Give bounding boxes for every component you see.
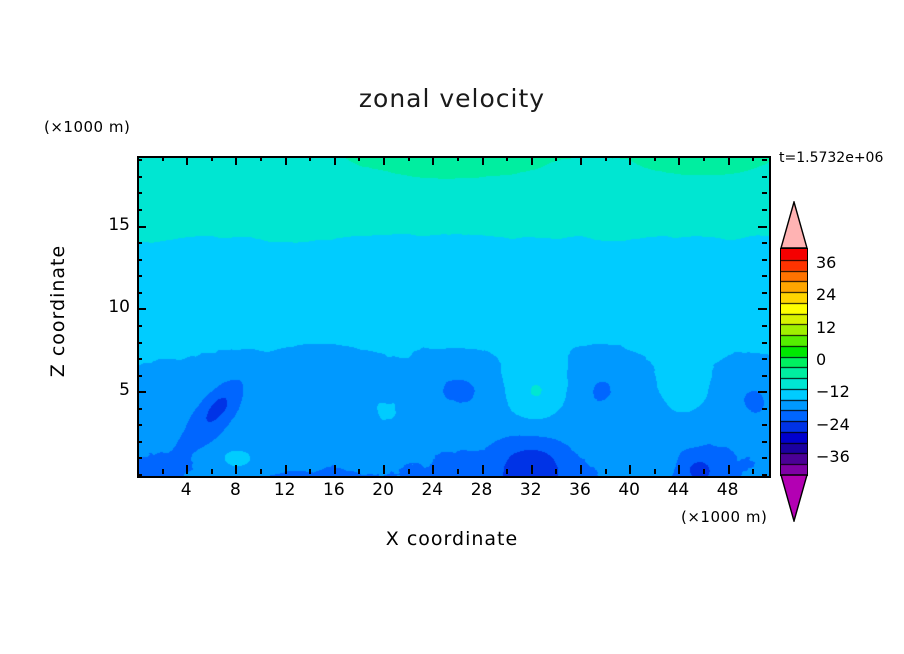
x-minor-tick (211, 469, 213, 474)
contour-plot-area (137, 156, 771, 478)
x-major-tick-top (186, 156, 188, 165)
y-minor-tick-right (762, 474, 767, 476)
x-tick-label: 40 (609, 480, 649, 500)
y-minor-tick (137, 457, 142, 459)
y-minor-tick-right (762, 408, 767, 410)
y-minor-tick (137, 408, 142, 410)
y-major-tick-right (758, 391, 767, 393)
y-minor-tick-right (762, 325, 767, 327)
y-major-tick (137, 226, 146, 228)
y-tick-label: 10 (96, 297, 130, 317)
colorbar-top-arrow (780, 201, 808, 248)
y-minor-tick (137, 358, 142, 360)
colorbar-tick-label: −36 (816, 447, 850, 466)
y-minor-tick-right (762, 424, 767, 426)
y-minor-tick-right (762, 441, 767, 443)
x-minor-tick (506, 469, 508, 474)
y-minor-tick (137, 275, 142, 277)
x-major-tick-top (728, 156, 730, 165)
y-minor-tick (137, 192, 142, 194)
x-axis-unit-label: (×1000 m) (681, 508, 767, 526)
x-minor-tick-top (555, 156, 557, 161)
y-major-tick-right (758, 308, 767, 310)
x-axis-title: X coordinate (0, 528, 904, 550)
x-major-tick-top (334, 156, 336, 165)
x-minor-tick (555, 469, 557, 474)
colorbar-bottom-arrow (780, 474, 808, 521)
y-minor-tick (137, 342, 142, 344)
x-minor-tick-top (703, 156, 705, 161)
y-minor-tick-right (762, 159, 767, 161)
y-major-tick-right (758, 226, 767, 228)
colorbar-tick-label: −12 (816, 382, 850, 401)
y-minor-tick (137, 424, 142, 426)
x-minor-tick (752, 469, 754, 474)
x-major-tick-top (235, 156, 237, 165)
timestamp-annotation: t=1.5732e+06 (779, 150, 883, 166)
y-minor-tick-right (762, 259, 767, 261)
x-major-tick-top (531, 156, 533, 165)
y-minor-tick-right (762, 275, 767, 277)
y-minor-tick (137, 375, 142, 377)
x-minor-tick-top (654, 156, 656, 161)
x-major-tick (432, 465, 434, 474)
colorbar-tick-label: 0 (816, 350, 826, 369)
x-major-tick (186, 465, 188, 474)
x-tick-label: 4 (166, 480, 206, 500)
x-major-tick (482, 465, 484, 474)
x-major-tick (383, 465, 385, 474)
x-major-tick (678, 465, 680, 474)
x-minor-tick (605, 469, 607, 474)
x-tick-label: 12 (265, 480, 305, 500)
y-minor-tick-right (762, 292, 767, 294)
y-minor-tick-right (762, 242, 767, 244)
x-major-tick-top (383, 156, 385, 165)
x-minor-tick-top (358, 156, 360, 161)
x-minor-tick (703, 469, 705, 474)
colorbar-tick-label: 36 (816, 253, 836, 272)
y-minor-tick-right (762, 342, 767, 344)
x-tick-label: 8 (215, 480, 255, 500)
x-minor-tick-top (260, 156, 262, 161)
x-major-tick (580, 465, 582, 474)
y-minor-tick-right (762, 176, 767, 178)
y-minor-tick-right (762, 457, 767, 459)
y-minor-tick (137, 474, 142, 476)
x-major-tick (137, 465, 139, 474)
y-minor-tick (137, 242, 142, 244)
y-axis-unit-label: (×1000 m) (44, 118, 130, 136)
x-minor-tick (654, 469, 656, 474)
y-minor-tick-right (762, 358, 767, 360)
x-major-tick-top (580, 156, 582, 165)
x-tick-label: 32 (511, 480, 551, 500)
x-minor-tick-top (309, 156, 311, 161)
x-tick-label: 48 (708, 480, 748, 500)
x-minor-tick-top (211, 156, 213, 161)
x-major-tick (728, 465, 730, 474)
colorbar-gradient (780, 248, 808, 476)
x-minor-tick-top (457, 156, 459, 161)
y-minor-tick-right (762, 209, 767, 211)
x-minor-tick (309, 469, 311, 474)
chart-title: zonal velocity (0, 84, 904, 113)
x-major-tick-top (678, 156, 680, 165)
x-tick-label: 24 (412, 480, 452, 500)
y-minor-tick (137, 325, 142, 327)
x-major-tick-top (629, 156, 631, 165)
x-major-tick (531, 465, 533, 474)
y-tick-label: 5 (96, 380, 130, 400)
x-minor-tick (260, 469, 262, 474)
x-major-tick (235, 465, 237, 474)
y-major-tick (137, 391, 146, 393)
colorbar (780, 248, 806, 474)
colorbar-top-arrow-icon (780, 201, 808, 249)
x-major-tick-top (482, 156, 484, 165)
colorbar-tick-label: 24 (816, 285, 836, 304)
y-minor-tick (137, 209, 142, 211)
y-axis-title: Z coordinate (47, 201, 69, 421)
y-tick-label: 15 (96, 215, 130, 235)
y-minor-tick (137, 259, 142, 261)
x-tick-label: 36 (560, 480, 600, 500)
y-minor-tick (137, 176, 142, 178)
colorbar-tick-label: 12 (816, 318, 836, 337)
x-major-tick-top (285, 156, 287, 165)
x-major-tick-top (432, 156, 434, 165)
x-tick-label: 20 (363, 480, 403, 500)
x-major-tick (629, 465, 631, 474)
x-minor-tick-top (605, 156, 607, 161)
x-minor-tick-top (162, 156, 164, 161)
y-minor-tick (137, 441, 142, 443)
y-minor-tick-right (762, 375, 767, 377)
y-minor-tick (137, 159, 142, 161)
x-minor-tick (408, 469, 410, 474)
y-minor-tick-right (762, 192, 767, 194)
x-minor-tick-top (506, 156, 508, 161)
y-major-tick (137, 308, 146, 310)
x-minor-tick (162, 469, 164, 474)
x-tick-label: 44 (658, 480, 698, 500)
y-minor-tick (137, 292, 142, 294)
x-minor-tick (457, 469, 459, 474)
x-minor-tick (358, 469, 360, 474)
x-minor-tick-top (752, 156, 754, 161)
x-major-tick (285, 465, 287, 474)
x-tick-label: 16 (314, 480, 354, 500)
x-minor-tick-top (408, 156, 410, 161)
x-tick-label: 28 (462, 480, 502, 500)
colorbar-bottom-arrow-icon (780, 474, 808, 522)
contour-field-canvas (139, 158, 769, 476)
x-major-tick (334, 465, 336, 474)
colorbar-tick-label: −24 (816, 415, 850, 434)
